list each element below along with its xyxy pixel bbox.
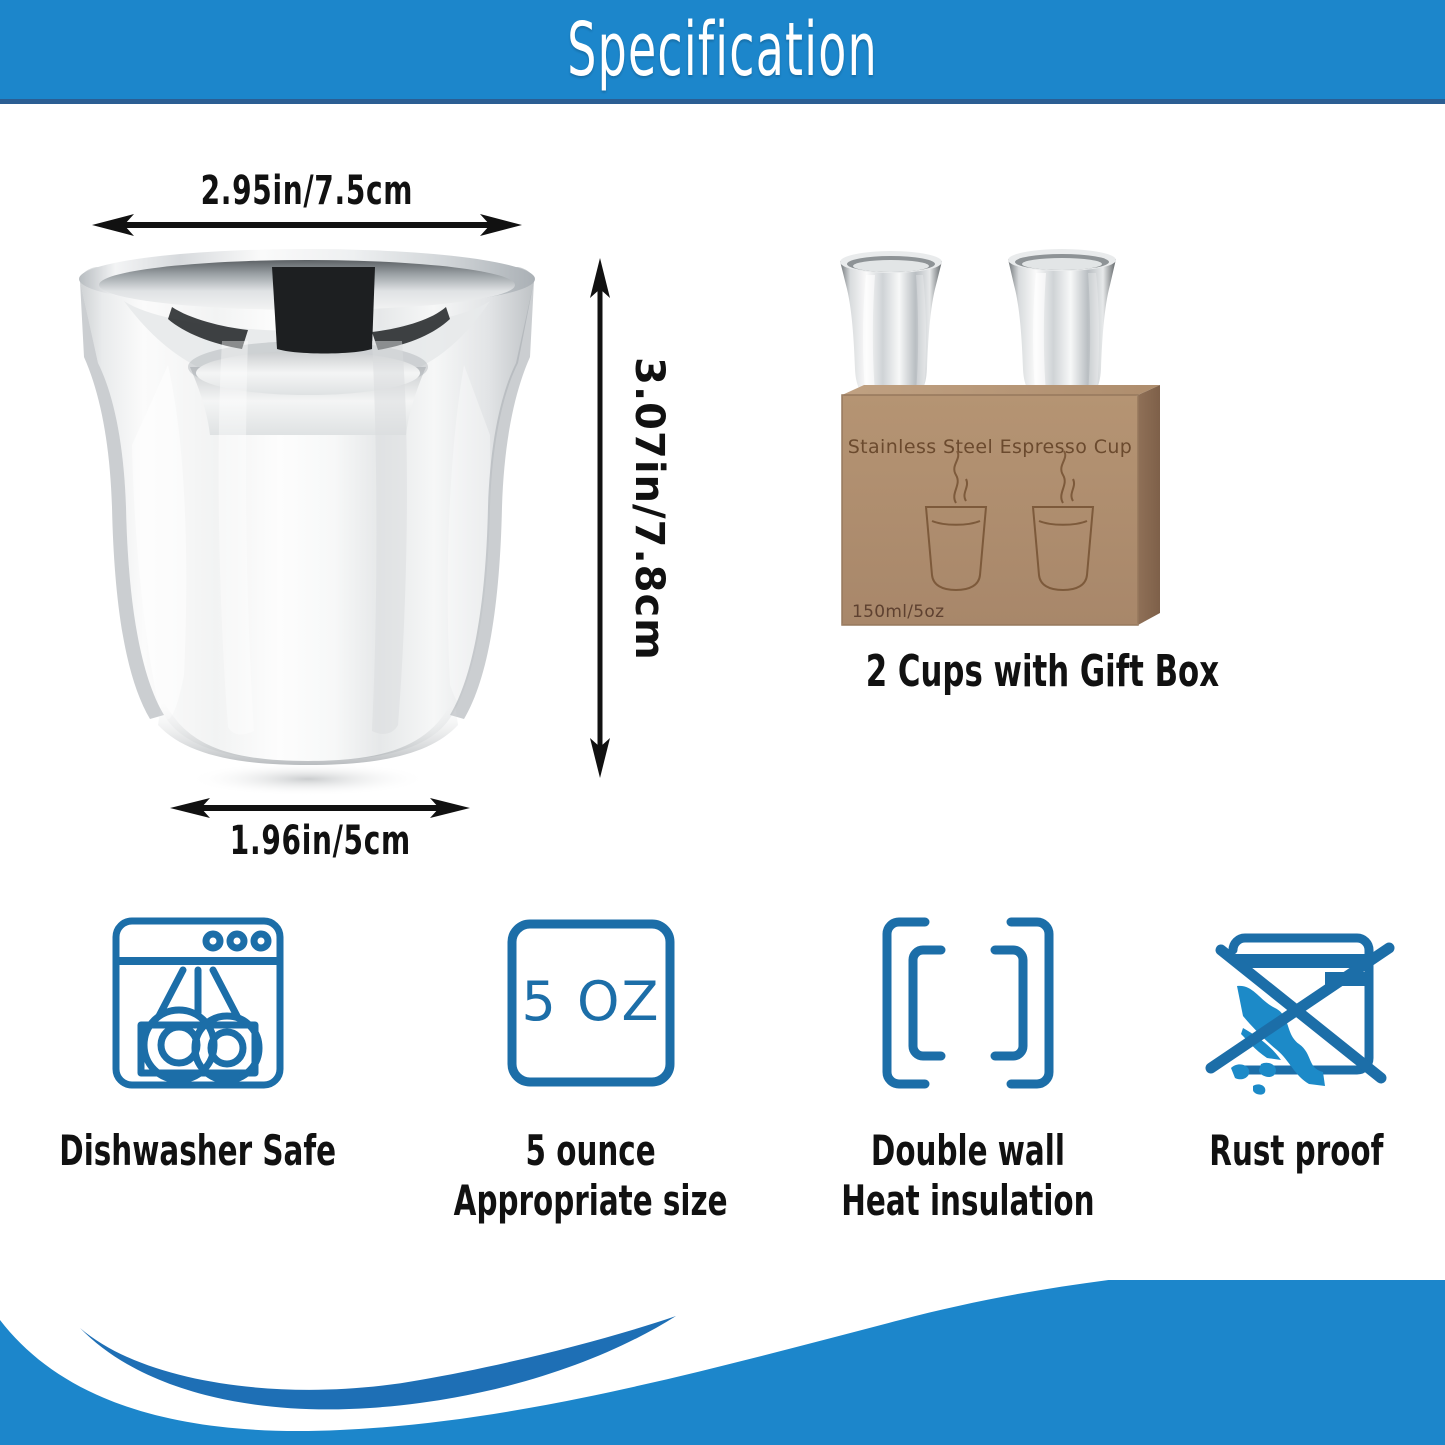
dimension-top: 2.95in/7.5cm (92, 168, 522, 238)
giftbox-box: Stainless Steel Espresso Cup 150ml/5oz (842, 385, 1160, 625)
page-title: Specification (567, 13, 878, 87)
feature-label-line: Double wall (841, 1126, 1094, 1176)
feature-icon-wrapper (1197, 905, 1397, 1100)
feature-dishwasher-safe: Dishwasher Safe (0, 905, 395, 1275)
feature-icon-wrapper: 5 OZ (496, 905, 686, 1100)
feature-label-line: Heat insulation (841, 1176, 1094, 1226)
giftbox-cup-right (1008, 249, 1116, 406)
feature-double-wall: Double wall Heat insulation (787, 905, 1149, 1275)
dimension-bottom-label: 1.96in/5cm (229, 818, 410, 864)
feature-label-line: 5 ounce (454, 1126, 728, 1176)
header-banner: Specification (0, 0, 1445, 104)
giftbox-image: Stainless Steel Espresso Cup 150ml/5oz (820, 245, 1220, 645)
giftbox-box-volume: 150ml/5oz (852, 602, 944, 622)
feature-label-rust-proof: Rust proof (1172, 1126, 1421, 1176)
giftbox-cup-left (840, 251, 942, 405)
giftbox-box-title: Stainless Steel Espresso Cup (848, 436, 1133, 458)
dimension-height: 3.07in/7.8cm (562, 258, 692, 778)
dimension-top-arrow-icon (92, 212, 522, 238)
feature-label-double-wall: Double wall Heat insulation (787, 1126, 1149, 1227)
feature-label-line: Appropriate size (454, 1176, 728, 1226)
feature-rust-proof: Rust proof (1148, 905, 1445, 1275)
giftbox-caption: 2 Cups with Gift Box (790, 646, 1240, 697)
dishwasher-icon (103, 908, 293, 1098)
dimension-top-label: 2.95in/7.5cm (201, 168, 414, 214)
rust-proof-icon (1197, 908, 1397, 1098)
feature-icon-wrapper (103, 905, 293, 1100)
dimension-bottom: 1.96in/5cm (170, 796, 470, 874)
capacity-5oz-icon: 5 OZ (496, 908, 686, 1098)
feature-capacity: 5 OZ 5 ounce Appropriate size (395, 905, 786, 1275)
giftbox-caption-text: 2 Cups with Gift Box (866, 646, 1219, 697)
feature-label-line: Dishwasher Safe (59, 1126, 336, 1176)
bottom-wave-decoration (0, 1280, 1445, 1445)
feature-label-capacity: 5 ounce Appropriate size (395, 1126, 786, 1227)
double-wall-icon (873, 908, 1063, 1098)
dimension-height-label: 3.07in/7.8cm (626, 294, 672, 724)
product-cup-image (72, 245, 542, 795)
feature-label-line: Rust proof (1210, 1126, 1384, 1176)
feature-label-dishwasher: Dishwasher Safe (0, 1126, 395, 1176)
capacity-icon-text: 5 OZ (521, 970, 660, 1033)
feature-row: Dishwasher Safe 5 OZ 5 ounce Appropriate… (0, 905, 1445, 1275)
feature-icon-wrapper (873, 905, 1063, 1100)
dimension-bottom-arrow-icon (170, 796, 470, 820)
dimension-height-arrow-icon (588, 258, 612, 778)
